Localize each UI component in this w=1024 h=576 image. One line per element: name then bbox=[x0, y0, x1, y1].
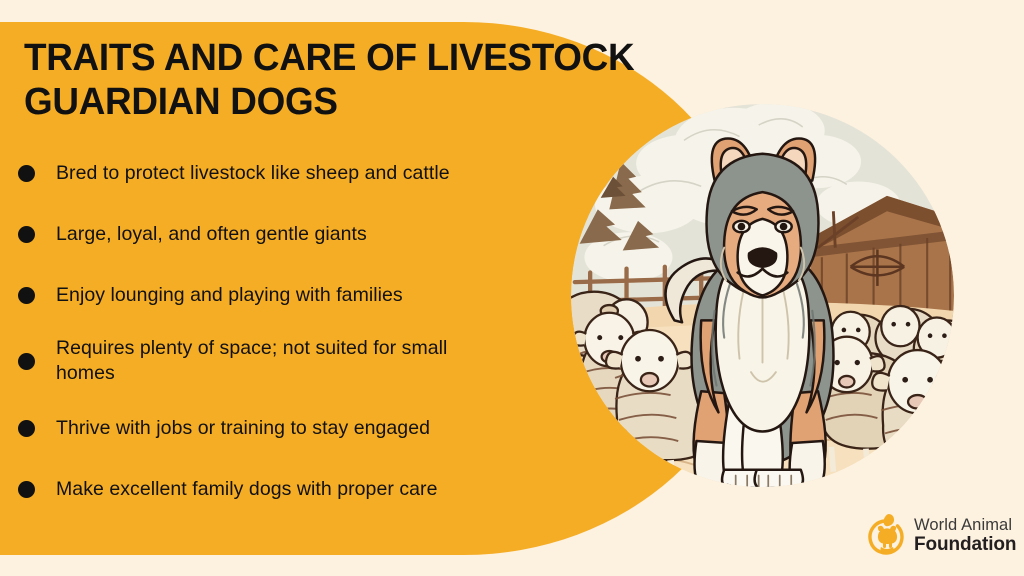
logo-line-1: World Animal bbox=[914, 516, 1016, 534]
list-item-label: Enjoy lounging and playing with families bbox=[56, 283, 403, 308]
list-item-label: Bred to protect livestock like sheep and… bbox=[56, 161, 450, 186]
bullet-dot-icon bbox=[18, 353, 35, 370]
list-item: Thrive with jobs or training to stay eng… bbox=[18, 405, 578, 452]
bullet-dot-icon bbox=[18, 287, 35, 304]
list-item-label: Make excellent family dogs with proper c… bbox=[56, 477, 438, 502]
list-item: Large, loyal, and often gentle giants bbox=[18, 211, 578, 258]
bullet-dot-icon bbox=[18, 165, 35, 182]
list-item: Make excellent family dogs with proper c… bbox=[18, 466, 578, 513]
bullet-dot-icon bbox=[18, 420, 35, 437]
bullet-dot-icon bbox=[18, 226, 35, 243]
list-item: Bred to protect livestock like sheep and… bbox=[18, 150, 578, 197]
brand-logo: World Animal Foundation bbox=[866, 512, 1016, 558]
bullet-dot-icon bbox=[18, 481, 35, 498]
list-item-label: Requires plenty of space; not suited for… bbox=[56, 336, 486, 386]
list-item: Enjoy lounging and playing with families bbox=[18, 272, 578, 319]
traits-bullet-list: Bred to protect livestock like sheep and… bbox=[18, 150, 578, 527]
page-title-line-1: TRAITS AND CARE OF LIVESTOCK bbox=[24, 36, 703, 80]
guardian-dog-scene-svg bbox=[571, 104, 954, 487]
page-title: TRAITS AND CARE OF LIVESTOCK GUARDIAN DO… bbox=[24, 36, 724, 124]
guardian-dog-illustration bbox=[571, 104, 954, 487]
logo-wordmark: World Animal Foundation bbox=[914, 516, 1016, 555]
list-item: Requires plenty of space; not suited for… bbox=[18, 333, 578, 389]
list-item-label: Thrive with jobs or training to stay eng… bbox=[56, 416, 430, 441]
page-title-line-2: GUARDIAN DOGS bbox=[24, 80, 703, 124]
world-animal-foundation-emblem-icon bbox=[866, 512, 906, 558]
logo-line-2: Foundation bbox=[914, 534, 1016, 555]
infographic-canvas: TRAITS AND CARE OF LIVESTOCK GUARDIAN DO… bbox=[0, 0, 1024, 576]
list-item-label: Large, loyal, and often gentle giants bbox=[56, 222, 367, 247]
